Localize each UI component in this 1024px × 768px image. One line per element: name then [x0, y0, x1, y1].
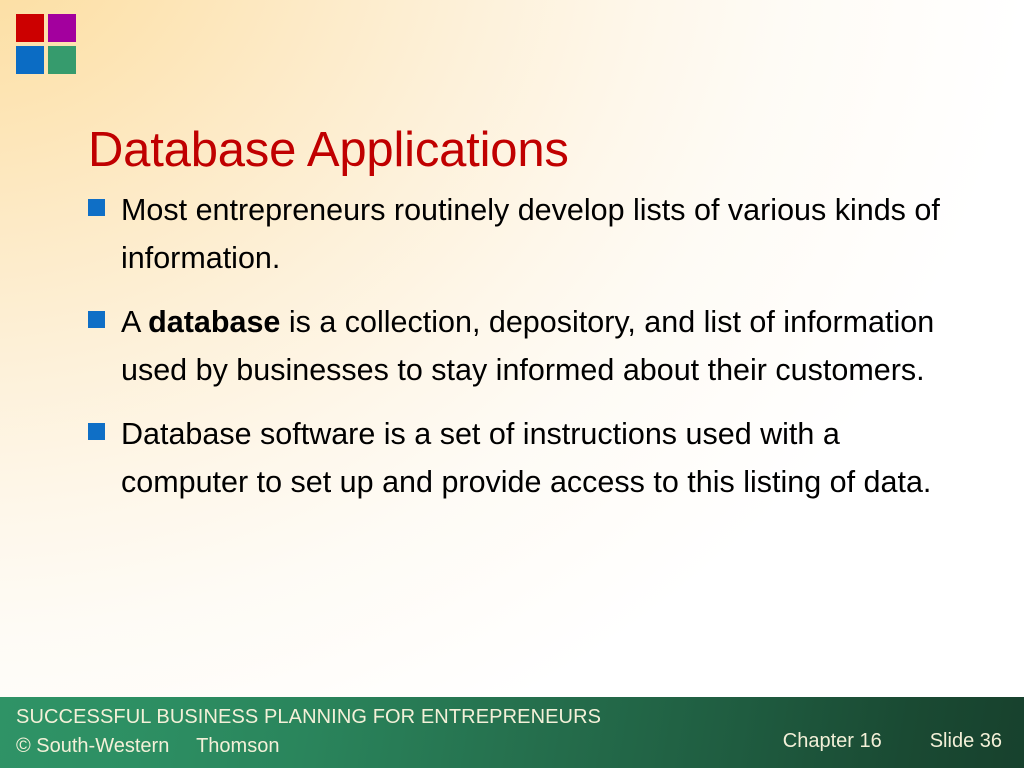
footer-course-title: SUCCESSFUL BUSINESS PLANNING FOR ENTREPR…: [16, 703, 601, 732]
footer-slide-number: Slide 36: [930, 730, 1002, 753]
page-title: Database Applications: [88, 125, 968, 176]
logo-square-purple: [48, 14, 76, 42]
bullet-list: Most entrepreneurs routinely develop lis…: [88, 186, 968, 522]
footer-left-block: SUCCESSFUL BUSINESS PLANNING FOR ENTREPR…: [16, 703, 601, 761]
list-item: Most entrepreneurs routinely develop lis…: [88, 186, 968, 282]
bullet-square-icon: [88, 423, 105, 440]
footer-chapter-label: Chapter 16: [783, 730, 882, 753]
logo-square-green: [48, 46, 76, 74]
list-item-text: A database is a collection, depository, …: [121, 298, 941, 394]
list-item-text: Database software is a set of instructio…: [121, 410, 941, 506]
bullet-square-icon: [88, 311, 105, 328]
text-run: Most entrepreneurs routinely develop lis…: [121, 193, 940, 275]
bullet-square-icon: [88, 199, 105, 216]
footer-copyright-line: © South-Western Thomson: [16, 732, 601, 761]
list-item: A database is a collection, depository, …: [88, 298, 968, 394]
south-western-thomson-logo: [16, 14, 76, 74]
list-item-text: Most entrepreneurs routinely develop lis…: [121, 186, 941, 282]
logo-square-blue: [16, 46, 44, 74]
logo-square-red: [16, 14, 44, 42]
slide-footer: SUCCESSFUL BUSINESS PLANNING FOR ENTREPR…: [0, 697, 1024, 768]
emphasis-term: database: [148, 305, 280, 339]
footer-right-block: Chapter 16 Slide 36: [783, 730, 1002, 753]
text-run: Database software is a set of instructio…: [121, 417, 931, 499]
footer-publisher: Thomson: [196, 735, 279, 757]
text-run: A: [121, 305, 148, 339]
presentation-slide: Database Applications Most entrepreneurs…: [0, 0, 1024, 768]
footer-copyright: © South-Western: [16, 735, 169, 757]
list-item: Database software is a set of instructio…: [88, 410, 968, 506]
